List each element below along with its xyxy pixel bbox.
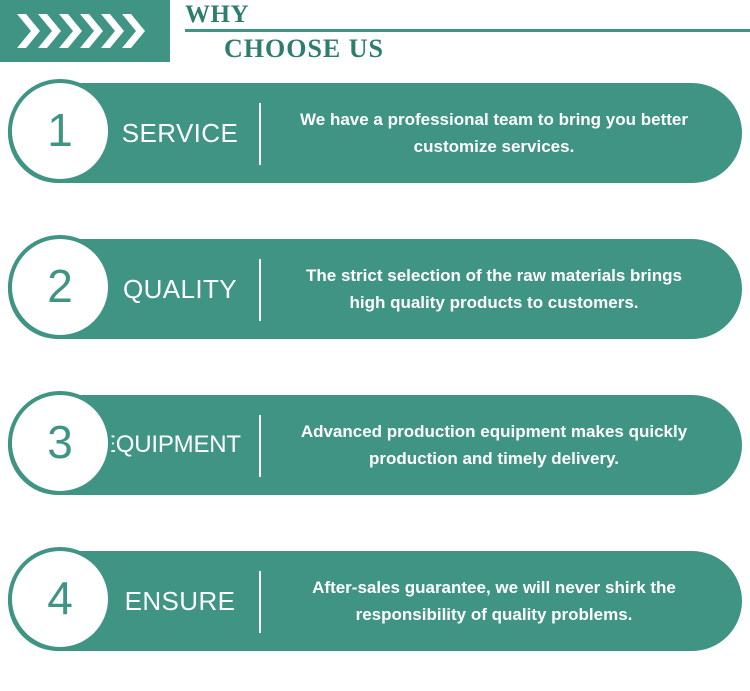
item-number-badge: 2 — [8, 235, 112, 339]
page-title-line1: WHY — [185, 0, 750, 28]
item-label: QUALITY — [104, 239, 256, 339]
item-number: 2 — [47, 263, 73, 309]
item-divider — [259, 259, 261, 321]
item-divider — [259, 103, 261, 165]
item-description-line2: production and timely delivery. — [369, 445, 619, 472]
item-label: EQUIPMENT — [100, 395, 252, 495]
item-description: The strict selection of the raw material… — [278, 239, 710, 339]
item-number-badge: 3 — [8, 391, 112, 495]
item-description-line2: customize services. — [414, 133, 575, 160]
item-description-line1: We have a professional team to bring you… — [300, 106, 688, 133]
double-chevron-arrows-icon — [17, 14, 153, 48]
list-item: 3 EQUIPMENT Advanced production equipmen… — [0, 391, 750, 496]
page-title: WHY CHOOSE US — [185, 0, 750, 70]
list-item: 1 SERVICE We have a professional team to… — [0, 79, 750, 184]
item-number: 3 — [47, 419, 73, 465]
item-description: After-sales guarantee, we will never shi… — [278, 551, 710, 651]
page-title-line2: CHOOSE US — [185, 28, 750, 63]
item-label: SERVICE — [104, 83, 256, 183]
item-description: Advanced production equipment makes quic… — [278, 395, 710, 495]
item-description-line2: responsibility of quality problems. — [356, 601, 633, 628]
feature-list: 1 SERVICE We have a professional team to… — [0, 79, 750, 652]
item-divider — [259, 571, 261, 633]
list-item: 4 ENSURE After-sales guarantee, we will … — [0, 547, 750, 652]
item-label: ENSURE — [104, 551, 256, 651]
title-underline-rule — [185, 29, 750, 32]
item-divider — [259, 415, 261, 477]
logo-block — [0, 0, 170, 62]
item-number-badge: 4 — [8, 547, 112, 651]
item-description-line1: The strict selection of the raw material… — [306, 262, 682, 289]
item-number-badge: 1 — [8, 79, 112, 183]
page-header: WHY CHOOSE US — [0, 0, 750, 74]
item-description-line2: high quality products to customers. — [349, 289, 638, 316]
item-description-line1: Advanced production equipment makes quic… — [301, 418, 687, 445]
item-description: We have a professional team to bring you… — [278, 83, 710, 183]
item-description-line1: After-sales guarantee, we will never shi… — [312, 574, 676, 601]
item-number: 4 — [47, 575, 73, 621]
item-number: 1 — [47, 107, 73, 153]
list-item: 2 QUALITY The strict selection of the ra… — [0, 235, 750, 340]
